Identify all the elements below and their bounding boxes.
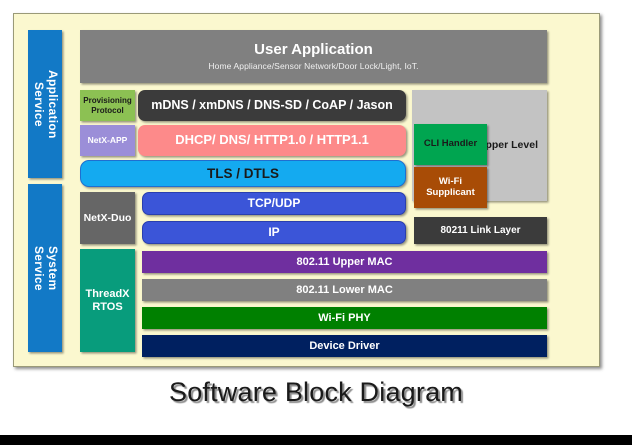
block-tls-dtls: TLS / DTLS (80, 160, 406, 187)
page-title: Software Block Diagram (0, 377, 632, 408)
software-block-diagram-frame: Application Service System Service User … (13, 13, 600, 367)
rail-system-service-label: System Service (31, 246, 59, 291)
block-80211-link-layer: 80211 Link Layer (414, 217, 547, 244)
rail-application-service: Application Service (28, 30, 62, 178)
block-http-protocols: DHCP/ DNS/ HTTP1.0 / HTTP1.1 (138, 125, 406, 156)
rail-application-service-label: Application Service (31, 70, 59, 139)
block-netx-duo: NetX-Duo (80, 192, 135, 244)
block-user-application: User Application Home Appliance/Sensor N… (80, 30, 547, 83)
block-user-application-label: User Application (254, 41, 373, 58)
block-802-11-lower-mac: 802.11 Lower MAC (142, 279, 547, 301)
block-wifi-supplicant: Wi-Fi Supplicant (414, 167, 487, 208)
block-wifi-phy: Wi-Fi PHY (142, 307, 547, 329)
block-threadx-rtos: ThreadX RTOS (80, 249, 135, 352)
block-user-application-subtitle: Home Appliance/Sensor Network/Door Lock/… (208, 62, 418, 72)
block-provisioning-protocol: Provisioning Protocol (80, 90, 135, 121)
bottom-bar (0, 435, 632, 445)
block-ip: IP (142, 221, 406, 244)
block-netx-app: NetX-APP (80, 125, 135, 156)
rail-system-service: System Service (28, 184, 62, 352)
block-802-11-upper-mac: 802.11 Upper MAC (142, 251, 547, 273)
block-tcp-udp: TCP/UDP (142, 192, 406, 215)
block-device-driver: Device Driver (142, 335, 547, 357)
block-app-protocols: mDNS / xmDNS / DNS-SD / CoAP / Jason (138, 90, 406, 121)
block-cli-handler: CLI Handler (414, 124, 487, 165)
